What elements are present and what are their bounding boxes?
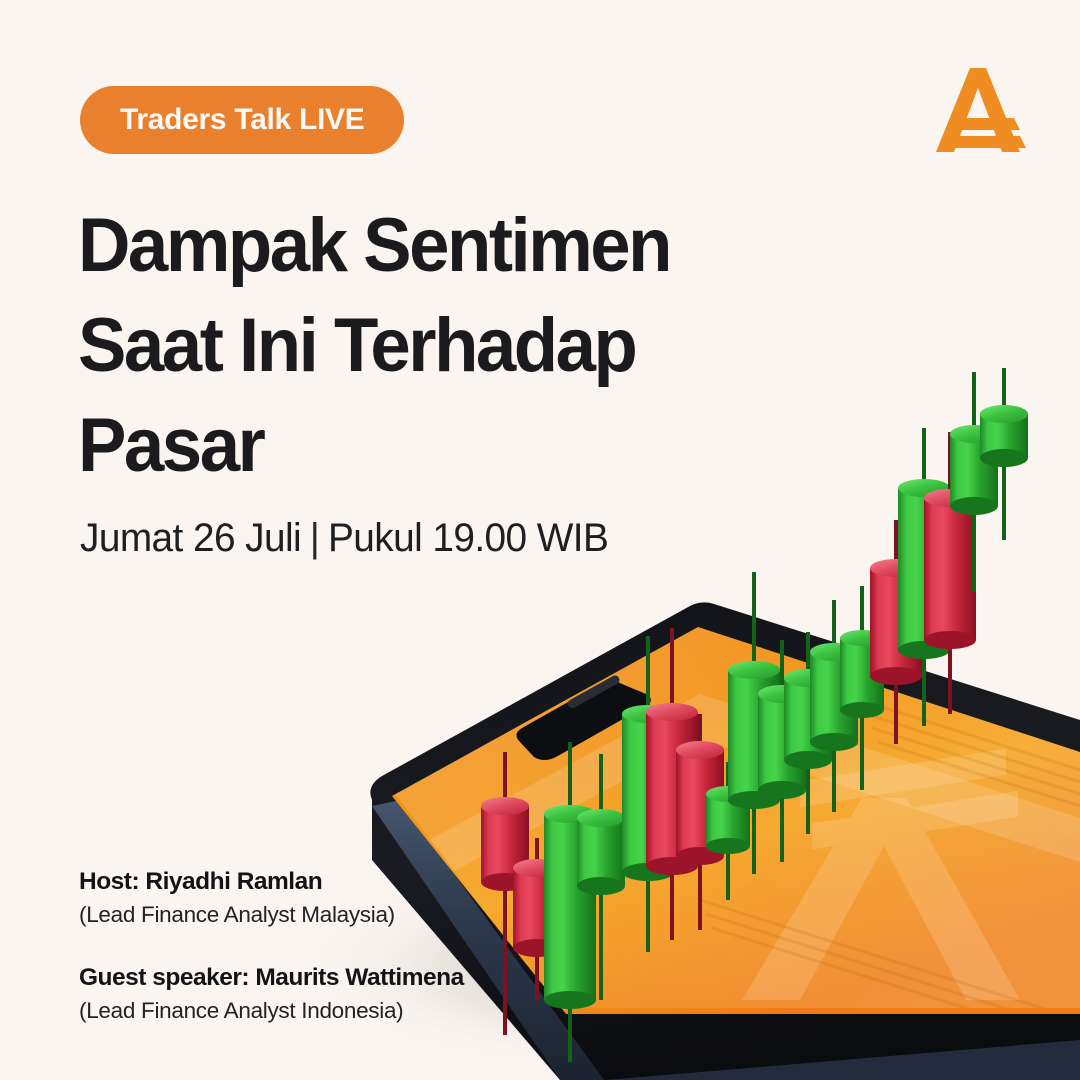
credit-host-name: Host: Riyadhi Ramlan <box>79 866 464 897</box>
screen-logo-watermark <box>742 749 1020 1000</box>
candle-14 <box>870 520 922 744</box>
page-title: Dampak Sentimen Saat Ini Terhadap Pasar <box>78 196 798 496</box>
headline-line-3: Pasar <box>78 396 766 496</box>
candle-16 <box>924 432 976 714</box>
candle-4 <box>577 754 625 1000</box>
candle-11 <box>784 632 832 834</box>
candle-15 <box>898 428 950 726</box>
candle-5 <box>622 636 674 952</box>
poster-canvas: Traders Talk LIVE Dampak Sentimen Saat I… <box>0 0 1080 1080</box>
candle-13 <box>840 586 884 790</box>
screen-stripe-texture <box>700 700 1080 1044</box>
headline-line-2: Saat Ini Terhadap <box>78 296 766 396</box>
credit-host-role: (Lead Finance Analyst Malaysia) <box>79 900 464 930</box>
candle-1 <box>481 752 529 1035</box>
candle-3 <box>544 742 596 1062</box>
candle-8 <box>706 762 750 900</box>
candle-7 <box>676 714 724 930</box>
schedule-time: Pukul 19.00 WIB <box>328 516 608 560</box>
candle-9 <box>728 572 780 874</box>
candle-17 <box>950 372 998 592</box>
candle-2 <box>513 838 561 1000</box>
earpiece-speaker-icon <box>566 674 621 710</box>
phone-screen <box>392 627 1080 1014</box>
volume-button-icon <box>447 836 493 867</box>
headline-line-1: Dampak Sentimen <box>78 196 766 296</box>
candle-10 <box>758 640 806 862</box>
credit-guest-role: (Lead Finance Analyst Indonesia) <box>79 996 464 1026</box>
candle-12 <box>810 600 858 812</box>
live-badge-label: Traders Talk LIVE <box>120 103 364 137</box>
credit-guest-name: Guest speaker: Maurits Wattimena <box>79 962 464 993</box>
phone-bottom-rail <box>560 1040 1080 1080</box>
credit-host: Host: Riyadhi Ramlan (Lead Finance Analy… <box>79 866 464 930</box>
phone-bezel <box>370 602 1080 1080</box>
credit-guest: Guest speaker: Maurits Wattimena (Lead F… <box>79 962 464 1026</box>
credits-block: Host: Riyadhi Ramlan (Lead Finance Analy… <box>79 866 464 1026</box>
schedule-date: Jumat 26 Juli <box>80 516 301 560</box>
schedule-line: Jumat 26 Juli|Pukul 19.00 WIB <box>80 512 608 564</box>
schedule-separator: | <box>301 512 328 564</box>
candle-18 <box>980 368 1028 540</box>
phone-notch <box>516 681 651 760</box>
brand-a-mark-logo <box>928 60 1032 160</box>
live-badge[interactable]: Traders Talk LIVE <box>80 86 404 154</box>
candle-6 <box>646 628 698 940</box>
smartphone <box>370 602 1080 1080</box>
